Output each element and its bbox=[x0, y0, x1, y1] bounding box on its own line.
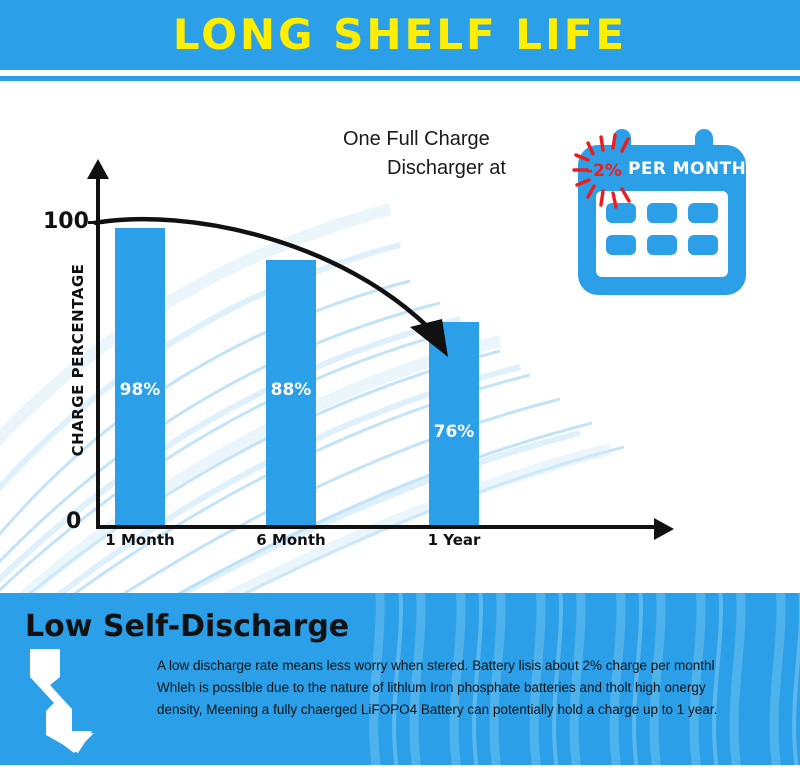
infographic-page: LONG SHELF LIFE bbox=[0, 0, 800, 771]
bar-6-month: 88% bbox=[266, 260, 316, 525]
y-axis-label: CHARGE PERCENTAGE bbox=[69, 260, 87, 460]
bar-value-6-month: 88% bbox=[266, 380, 316, 400]
x-axis-arrow-icon bbox=[654, 518, 674, 540]
charge-percentage-bar-chart: 100 0 CHARGE PERCENTAGE 98% 88% 76% 1 Mo… bbox=[0, 81, 800, 593]
bar-1-month: 98% bbox=[115, 228, 165, 525]
bar-value-1-year: 76% bbox=[429, 422, 479, 442]
x-category-label-1: 1 Month bbox=[90, 531, 190, 549]
y-tick-label-0: 0 bbox=[66, 509, 81, 534]
x-category-label-2: 6 Month bbox=[241, 531, 341, 549]
x-axis-line bbox=[96, 525, 656, 529]
low-self-discharge-section: Low Self-Discharge A low discharge rate … bbox=[0, 593, 800, 765]
y-tick-label-100: 100 bbox=[43, 209, 89, 234]
bar-1-year: 76% bbox=[429, 322, 479, 525]
main-content: One Full Charge Discharger at bbox=[0, 81, 800, 593]
down-right-zigzag-arrow-icon bbox=[28, 649, 138, 754]
paragraph-line-1: A low discharge rate means less worry wh… bbox=[157, 655, 777, 677]
y-tick-100 bbox=[88, 221, 104, 224]
section-title: Low Self-Discharge bbox=[25, 609, 349, 644]
page-title: LONG SHELF LIFE bbox=[0, 0, 800, 70]
section-paragraph: A low discharge rate means less worry wh… bbox=[157, 655, 777, 721]
paragraph-line-3: density, Meening a fully chaerged LiFOPO… bbox=[157, 699, 777, 721]
bar-value-1-month: 98% bbox=[115, 380, 165, 400]
y-axis-line bbox=[96, 176, 100, 528]
x-category-label-3: 1 Year bbox=[404, 531, 504, 549]
paragraph-line-2: Whleh is possIble due to the nature of l… bbox=[157, 677, 777, 699]
bottom-white-strip bbox=[0, 765, 800, 771]
y-axis-arrow-icon bbox=[87, 159, 109, 179]
